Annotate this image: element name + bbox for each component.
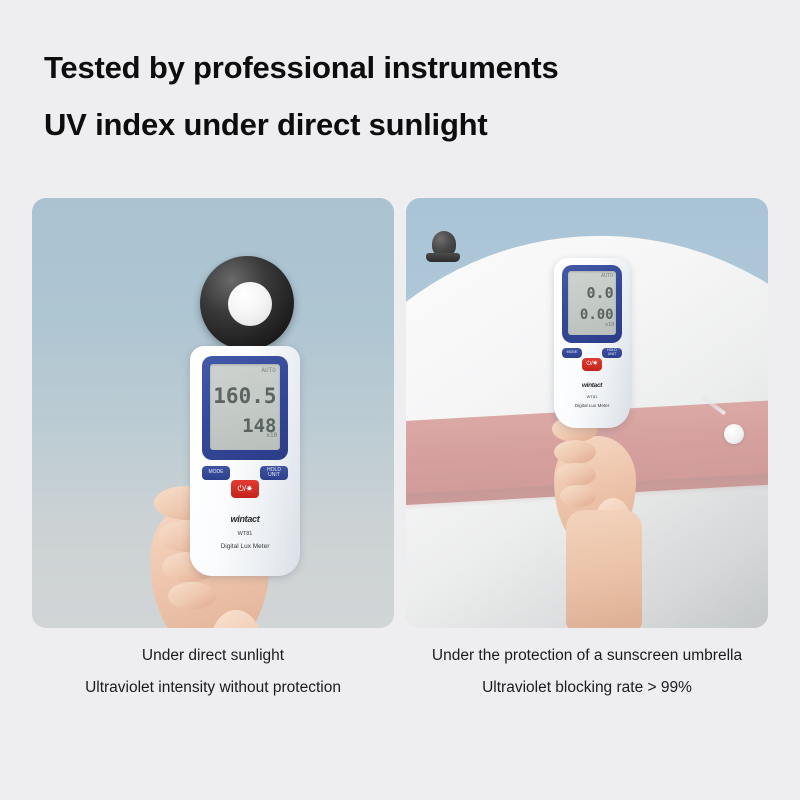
- brand-description: Digital Lux Meter: [190, 543, 300, 550]
- brand-model: WT81: [554, 394, 630, 399]
- mode-button[interactable]: MODE: [562, 348, 582, 358]
- brand-block: wintact WT81 Digital Lux Meter: [554, 382, 630, 408]
- page-title: Tested by professional instruments UV in…: [44, 52, 744, 140]
- finger-pinky: [560, 485, 596, 507]
- lcd-unit: x10: [605, 323, 614, 328]
- brand-logo: wintact: [554, 382, 630, 389]
- mode-button-label: MODE: [567, 351, 578, 355]
- hold-unit-button[interactable]: HOLD UNIT: [260, 466, 288, 480]
- heading-line-1: Tested by professional instruments: [44, 52, 744, 83]
- lcd-screen-left: AUTO 160.5 148 x10: [210, 364, 280, 450]
- unit-button-label: UNIT: [268, 473, 280, 478]
- panel-captions: Under direct sunlight Ultraviolet intens…: [32, 648, 768, 695]
- caption-left: Under direct sunlight Ultraviolet intens…: [32, 648, 394, 695]
- caption-right: Under the protection of a sunscreen umbr…: [406, 648, 768, 695]
- lcd-screen-right: AUTO 0.0 0.00 x10: [568, 271, 616, 335]
- lcd-mini-indicator: AUTO: [261, 368, 275, 374]
- lux-meter-device-right[interactable]: AUTO 0.0 0.00 x10 MODE HOLD UNIT ⏻/☀ win…: [554, 258, 630, 428]
- brand-description: Digital Lux Meter: [554, 403, 630, 408]
- comparison-panels: AUTO 160.5 148 x10 MODE HOLD UNIT ⏻/☀ wi…: [32, 198, 768, 628]
- unit-button-label: UNIT: [608, 353, 616, 357]
- sensor-dome: [228, 282, 272, 326]
- caption-right-line-2: Ultraviolet blocking rate > 99%: [406, 680, 768, 696]
- caption-right-line-1: Under the protection of a sunscreen umbr…: [406, 648, 768, 664]
- caption-left-line-2: Ultraviolet intensity without protection: [32, 680, 394, 696]
- power-button-label: ⏻/☀: [238, 484, 253, 494]
- lux-meter-device-left[interactable]: AUTO 160.5 148 x10 MODE HOLD UNIT ⏻/☀ wi…: [190, 346, 300, 576]
- brand-model: WT81: [190, 531, 300, 537]
- lcd-primary-value: 0.0: [587, 286, 614, 301]
- photo-panel-direct-sunlight: AUTO 160.5 148 x10 MODE HOLD UNIT ⏻/☀ wi…: [32, 198, 394, 628]
- power-button-label: ⏻/☀: [586, 361, 597, 368]
- power-button[interactable]: ⏻/☀: [582, 358, 602, 371]
- lcd-mini-indicator: AUTO: [601, 274, 613, 279]
- lcd-primary-value: 160.5: [213, 386, 276, 407]
- heading-line-2: UV index under direct sunlight: [44, 109, 744, 140]
- power-button[interactable]: ⏻/☀: [231, 480, 259, 498]
- mode-button-label: MODE: [209, 470, 224, 475]
- finger-middle: [554, 440, 596, 464]
- umbrella-tip: [724, 424, 744, 444]
- mode-button[interactable]: MODE: [202, 466, 230, 480]
- umbrella-finial-base: [426, 253, 460, 262]
- page-root: { "page": { "background_color": "#eeedf0…: [0, 0, 800, 800]
- caption-left-line-1: Under direct sunlight: [32, 648, 394, 664]
- hold-unit-button[interactable]: HOLD UNIT: [602, 348, 622, 358]
- wrist: [566, 510, 642, 628]
- photo-panel-under-umbrella: AUTO 0.0 0.00 x10 MODE HOLD UNIT ⏻/☀ win…: [406, 198, 768, 628]
- lcd-unit: x10: [266, 433, 277, 439]
- finger-ring: [556, 463, 596, 486]
- lcd-secondary-value: 0.00: [580, 308, 614, 322]
- brand-logo: wintact: [190, 514, 300, 524]
- brand-block: wintact WT81 Digital Lux Meter: [190, 514, 300, 550]
- finger-pinky: [168, 582, 216, 610]
